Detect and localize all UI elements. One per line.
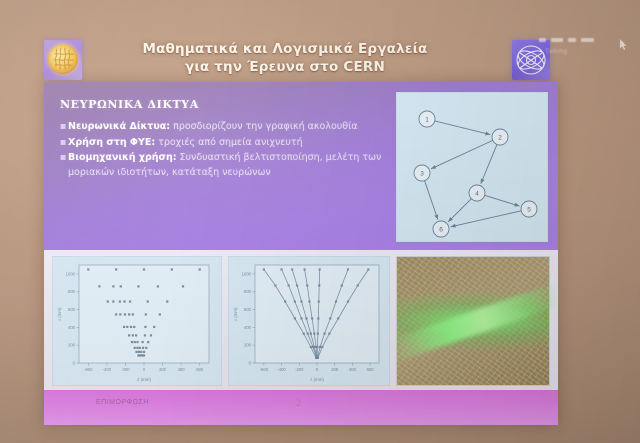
svg-text:200: 200: [331, 367, 339, 372]
audio-dash-4: [581, 38, 594, 42]
svg-text:1000: 1000: [66, 271, 76, 276]
projected-slide: ΝΕΥΡΩΝΙΚΑ ΔΙΚΤΥΑ ▪ Νευρωνικά Δίκτυα: προ…: [44, 82, 558, 425]
svg-text:3: 3: [420, 171, 424, 178]
list-item: ▪ Χρήση στη ΦΥΕ: τροχιές από σημεία ανιχ…: [58, 136, 398, 151]
svg-text:400: 400: [349, 367, 357, 372]
bullet-lead: Χρήση στη ΦΥΕ:: [68, 137, 155, 148]
svg-text:z (mm): z (mm): [137, 377, 151, 382]
title-line-1: Μαθηματικά και Λογισμικά Εργαλεία: [120, 40, 450, 58]
svg-text:-200: -200: [295, 367, 304, 372]
bullet-list: ▪ Νευρωνικά Δίκτυα: προσδιορίζουν την γρ…: [58, 120, 398, 181]
svg-text:-200: -200: [121, 367, 130, 372]
mouse-pointer-icon: [619, 38, 628, 51]
svg-text:0: 0: [249, 361, 252, 366]
scatter-plot-figure: 02004006008001000 -600-400-2000200400600…: [52, 256, 222, 386]
svg-text:4: 4: [475, 191, 479, 198]
brain-logo: [44, 40, 82, 80]
page-title: Μαθηματικά και Λογισμικά Εργαλεία για τη…: [120, 40, 450, 76]
track-line-chart-figure: 02004006008001000 -600-400-2000200400600…: [228, 256, 390, 386]
bullet-rest: τροχιές από σημεία ανιχνευτή: [155, 137, 303, 148]
svg-text:400: 400: [244, 325, 252, 330]
svg-text:r (mm): r (mm): [233, 307, 238, 320]
projection-wall: Μαθηματικά και Λογισμικά Εργαλεία για τη…: [0, 0, 640, 443]
svg-text:1000: 1000: [242, 271, 252, 276]
svg-text:800: 800: [68, 289, 76, 294]
bullet-marker-icon: ▪: [58, 120, 68, 135]
svg-text:200: 200: [159, 367, 167, 372]
figure-strip: 02004006008001000 -600-400-2000200400600…: [44, 250, 558, 390]
svg-text:400: 400: [178, 367, 186, 372]
svg-text:600: 600: [244, 307, 252, 312]
svg-text:-400: -400: [277, 367, 286, 372]
svg-text:200: 200: [68, 343, 76, 348]
list-item: ▪ Βιομηχανική χρήση: Συνδυαστική βελτιστ…: [58, 151, 398, 180]
page-number: 2: [296, 398, 301, 408]
svg-text:-600: -600: [260, 367, 269, 372]
svg-text:1: 1: [425, 117, 429, 124]
bullet-rest: προσδιορίζουν την γραφική ακολουθία: [170, 121, 358, 132]
network-graph-figure: 123456: [396, 92, 548, 242]
call-status-overlay: Talking: [539, 36, 625, 64]
svg-text:0: 0: [143, 367, 146, 372]
slide-body-panel: ΝΕΥΡΩΝΙΚΑ ΔΙΚΤΥΑ ▪ Νευρωνικά Δίκτυα: προ…: [44, 82, 558, 250]
svg-text:0: 0: [73, 361, 76, 366]
audio-dash-3: [568, 38, 576, 42]
bullet-lead: Νευρωνικά Δίκτυα:: [68, 121, 170, 132]
footer-label: ΕΠΙΜΟΡΦΩΣΗ: [96, 399, 149, 406]
svg-text:z (mm): z (mm): [310, 377, 324, 382]
svg-text:200: 200: [244, 343, 252, 348]
audio-dash-2: [551, 38, 563, 42]
bullet-text: Χρήση στη ΦΥΕ: τροχιές από σημεία ανιχνε…: [68, 136, 398, 151]
bullet-text: Βιομηχανική χρήση: Συνδυαστική βελτιστοπ…: [68, 151, 398, 180]
title-line-2: για την Έρευνα στο CERN: [120, 58, 450, 76]
bullet-lead: Βιομηχανική χρήση:: [68, 152, 177, 163]
bullet-text: Νευρωνικά Δίκτυα: προσδιορίζουν την γραφ…: [68, 120, 398, 135]
svg-text:6: 6: [439, 227, 443, 234]
svg-text:-600: -600: [84, 367, 93, 372]
svg-text:400: 400: [68, 325, 76, 330]
svg-text:5: 5: [527, 207, 531, 214]
svg-text:600: 600: [367, 367, 375, 372]
svg-text:0: 0: [316, 367, 319, 372]
svg-text:600: 600: [196, 367, 204, 372]
list-item: ▪ Νευρωνικά Δίκτυα: προσδιορίζουν την γρ…: [58, 120, 398, 135]
brain-icon: [48, 44, 78, 74]
svg-text:-400: -400: [103, 367, 112, 372]
svg-text:2: 2: [498, 135, 502, 142]
svg-text:r (mm): r (mm): [57, 307, 62, 320]
cern-logo: [512, 40, 550, 80]
bullet-marker-icon: ▪: [58, 151, 68, 166]
svg-text:800: 800: [244, 289, 252, 294]
slide-footer: ΕΠΙΜΟΡΦΩΣΗ 2: [44, 390, 558, 425]
bullet-marker-icon: ▪: [58, 136, 68, 151]
svg-text:600: 600: [68, 307, 76, 312]
section-heading: ΝΕΥΡΩΝΙΚΑ ΔΙΚΤΥΑ: [60, 98, 199, 111]
neuron-fluorescence-image: [396, 256, 550, 386]
